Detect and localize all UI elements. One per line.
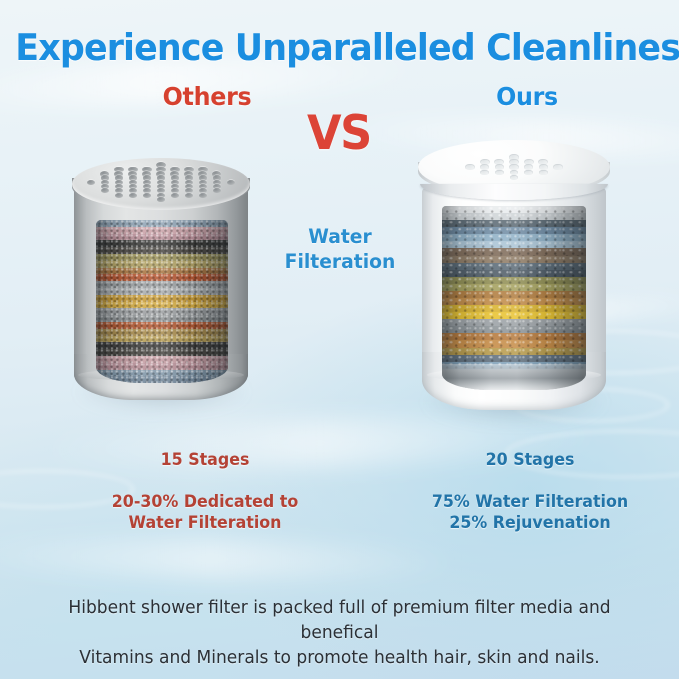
media-layer	[442, 277, 586, 284]
cartridge-cap-grey	[72, 158, 250, 210]
perforation-hole	[495, 170, 504, 176]
media-layer	[442, 234, 586, 241]
perforation-hole	[185, 193, 193, 198]
media-layer	[442, 305, 586, 312]
center-note-line2: Filteration	[281, 249, 398, 274]
media-layer	[442, 206, 586, 213]
media-layer	[442, 298, 586, 305]
perforation-hole	[465, 164, 475, 170]
media-layer	[96, 227, 228, 234]
footer-line1: Hibbent shower filter is packed full of …	[32, 596, 648, 646]
media-layer	[442, 220, 586, 227]
media-layer	[96, 329, 228, 336]
footer-description: Hibbent shower filter is packed full of …	[32, 596, 648, 671]
description-ours-line2: 25% Rejuvenation	[396, 513, 665, 534]
filter-media-stack-ours	[442, 206, 586, 390]
media-layer	[96, 315, 228, 322]
media-layer	[96, 240, 228, 247]
stages-count-ours: 20 Stages	[396, 450, 665, 469]
filter-media-stack-others	[96, 220, 228, 383]
versus-label: VS	[292, 106, 387, 161]
perforation-hole	[510, 175, 518, 180]
column-label-ours: Ours	[444, 82, 609, 111]
media-layer	[96, 302, 228, 309]
description-ours: 75% Water Filteration 25% Rejuvenation	[396, 492, 665, 533]
media-layer	[96, 356, 228, 363]
media-layer	[96, 370, 228, 377]
perforation-hole	[539, 170, 548, 176]
media-layer	[96, 342, 228, 349]
column-label-others: Others	[124, 82, 289, 111]
media-layer	[96, 220, 228, 227]
cloud-streak-icon	[0, 536, 460, 583]
media-layer	[96, 322, 228, 329]
perforation-hole	[129, 193, 137, 198]
stages-count-others: 15 Stages	[61, 450, 349, 469]
perforation-holes-icon	[72, 158, 250, 210]
perforation-hole	[143, 193, 151, 198]
media-layer	[442, 256, 586, 263]
perforation-hole	[115, 193, 123, 198]
media-layer	[442, 291, 586, 298]
media-layer	[96, 234, 228, 241]
media-layer	[96, 349, 228, 356]
media-layer	[96, 376, 228, 383]
media-window-others	[96, 220, 228, 383]
perforation-hole	[87, 180, 96, 185]
media-layer	[96, 261, 228, 268]
media-layer	[96, 308, 228, 315]
media-layer	[442, 241, 586, 248]
center-note: Water Filteration	[281, 224, 398, 274]
description-others: 20-30% Dedicated to Water Filteration	[61, 492, 349, 533]
description-others-line1: 20-30% Dedicated to	[61, 492, 349, 513]
media-layer	[96, 247, 228, 254]
media-layer	[96, 254, 228, 261]
media-layer	[96, 268, 228, 275]
footer-line2: Vitamins and Minerals to promote health …	[32, 646, 648, 671]
media-layer	[96, 288, 228, 295]
perforation-hole	[480, 170, 489, 176]
perforation-hole	[199, 193, 207, 198]
media-layer	[442, 355, 586, 362]
media-layer	[442, 227, 586, 234]
perforation-hole	[553, 164, 563, 170]
media-layer	[442, 348, 586, 355]
media-layer	[442, 333, 586, 340]
media-layer	[96, 336, 228, 343]
media-layer	[96, 295, 228, 302]
media-layer	[442, 213, 586, 220]
perforation-hole	[171, 193, 179, 198]
media-layer	[442, 270, 586, 277]
media-layer	[442, 284, 586, 291]
media-layer	[442, 340, 586, 347]
media-layer	[96, 281, 228, 288]
media-window-ours	[442, 206, 586, 390]
center-note-line1: Water	[281, 224, 398, 249]
media-layer	[442, 319, 586, 326]
description-ours-line1: 75% Water Filteration	[396, 492, 665, 513]
mesh-screen	[442, 364, 586, 390]
infographic-poster: Experience Unparalleled Cleanliness Othe…	[0, 0, 679, 679]
perforation-hole	[524, 170, 533, 176]
filter-cartridge-others	[68, 158, 254, 406]
perforation-hole	[157, 197, 164, 202]
media-layer	[442, 263, 586, 270]
perforation-hole	[213, 188, 221, 193]
media-layer	[442, 248, 586, 255]
perforation-hole	[101, 188, 109, 193]
media-layer	[442, 312, 586, 319]
media-layer	[96, 363, 228, 370]
perforation-hole	[227, 180, 236, 185]
page-title: Experience Unparalleled Cleanliness	[15, 26, 663, 69]
description-others-line2: Water Filteration	[61, 513, 349, 534]
media-layer	[96, 274, 228, 281]
filter-cartridge-ours	[414, 140, 614, 428]
media-layer	[442, 326, 586, 333]
